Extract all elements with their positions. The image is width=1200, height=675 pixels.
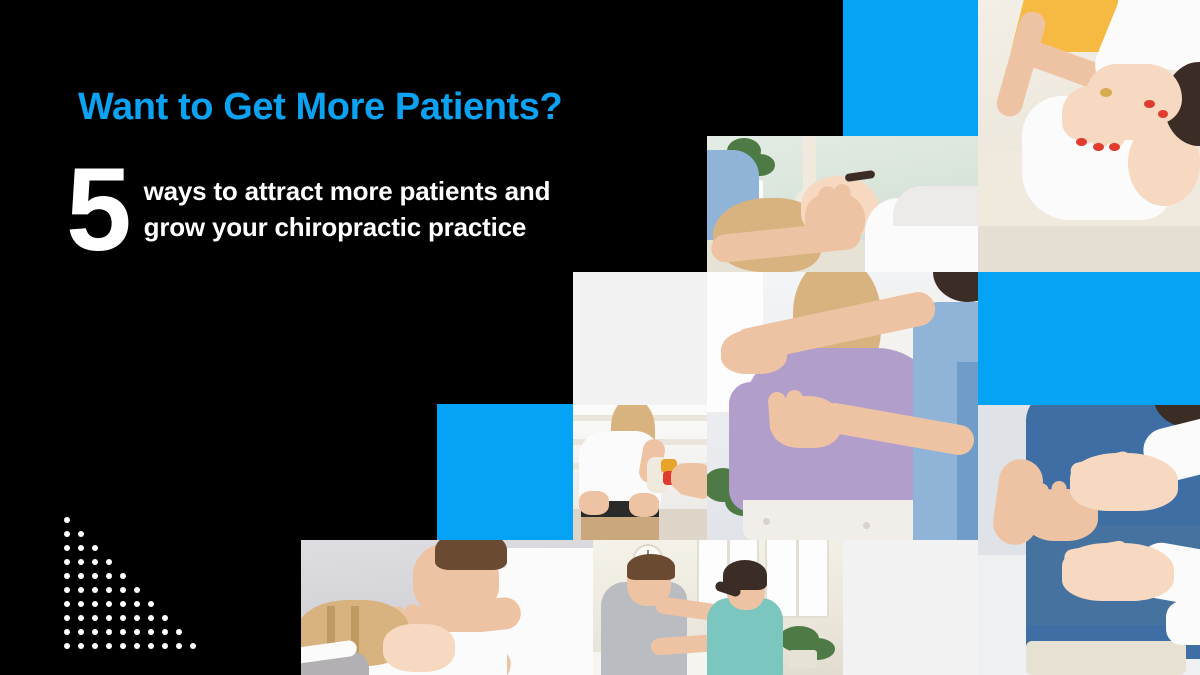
photo-spine-model-demo (573, 405, 707, 540)
dot-triangle-decoration (64, 517, 204, 657)
dot (64, 643, 70, 649)
dot (134, 629, 140, 635)
dot (64, 545, 70, 551)
subtitle-line-1: ways to attract more patients and (144, 174, 551, 210)
dot (106, 615, 112, 621)
blue-block-top (843, 0, 978, 136)
blue-block-right-mid (978, 272, 1200, 405)
dot (78, 545, 84, 551)
dot-row (64, 629, 204, 643)
dot-row (64, 517, 204, 531)
blue-block-left-mid (437, 404, 573, 540)
dot (78, 559, 84, 565)
dot (162, 629, 168, 635)
photo-prone-shoulder (301, 540, 593, 675)
dot (78, 573, 84, 579)
white-block-bottom (843, 540, 978, 675)
dot (64, 587, 70, 593)
dot (64, 531, 70, 537)
dot (106, 629, 112, 635)
banner-canvas: Want to Get More Patients? 5 ways to att… (0, 0, 1200, 675)
dot (92, 559, 98, 565)
dot (176, 629, 182, 635)
dot (92, 643, 98, 649)
dot-row (64, 643, 204, 657)
dot (120, 601, 126, 607)
dot (148, 629, 154, 635)
dot (78, 531, 84, 537)
dot (92, 587, 98, 593)
dot (190, 643, 196, 649)
dot (78, 629, 84, 635)
dot (120, 587, 126, 593)
photo-back-adjust-purple (707, 272, 978, 540)
dot (120, 573, 126, 579)
dot (106, 587, 112, 593)
dot (120, 629, 126, 635)
subtitle-lines: ways to attract more patients and grow y… (144, 174, 551, 246)
white-block-middle (573, 272, 707, 405)
dot (106, 573, 112, 579)
dot (106, 601, 112, 607)
dot (134, 587, 140, 593)
dot (134, 615, 140, 621)
photo-head-cradle (707, 136, 978, 272)
dot (106, 559, 112, 565)
count-number: 5 (66, 164, 126, 256)
dot-row (64, 545, 204, 559)
dot (92, 573, 98, 579)
dot (162, 643, 168, 649)
photo-neck-adjust-supine (978, 0, 1200, 272)
dot (148, 615, 154, 621)
dot (92, 545, 98, 551)
dot (64, 559, 70, 565)
dot-row (64, 573, 204, 587)
dot (64, 629, 70, 635)
photo-lumbar-hands (978, 405, 1200, 675)
photo-posture-check (593, 540, 843, 675)
dot (176, 643, 182, 649)
dot (64, 601, 70, 607)
dot (78, 587, 84, 593)
dot (64, 615, 70, 621)
dot (78, 643, 84, 649)
dot (78, 601, 84, 607)
dot-row (64, 531, 204, 545)
dot (106, 643, 112, 649)
dot (92, 629, 98, 635)
subtitle-group: 5 ways to attract more patients and grow… (66, 168, 550, 256)
dot (134, 601, 140, 607)
dot (120, 643, 126, 649)
dot (64, 517, 70, 523)
dot (78, 615, 84, 621)
dot (120, 615, 126, 621)
dot (134, 643, 140, 649)
dot-row (64, 615, 204, 629)
dot (92, 615, 98, 621)
page-title: Want to Get More Patients? (78, 86, 562, 129)
dot-row (64, 559, 204, 573)
dot-row (64, 601, 204, 615)
dot (148, 643, 154, 649)
dot (148, 601, 154, 607)
dot-row (64, 587, 204, 601)
subtitle-line-2: grow your chiropractic practice (144, 210, 551, 246)
dot (162, 615, 168, 621)
dot (92, 601, 98, 607)
dot (64, 573, 70, 579)
